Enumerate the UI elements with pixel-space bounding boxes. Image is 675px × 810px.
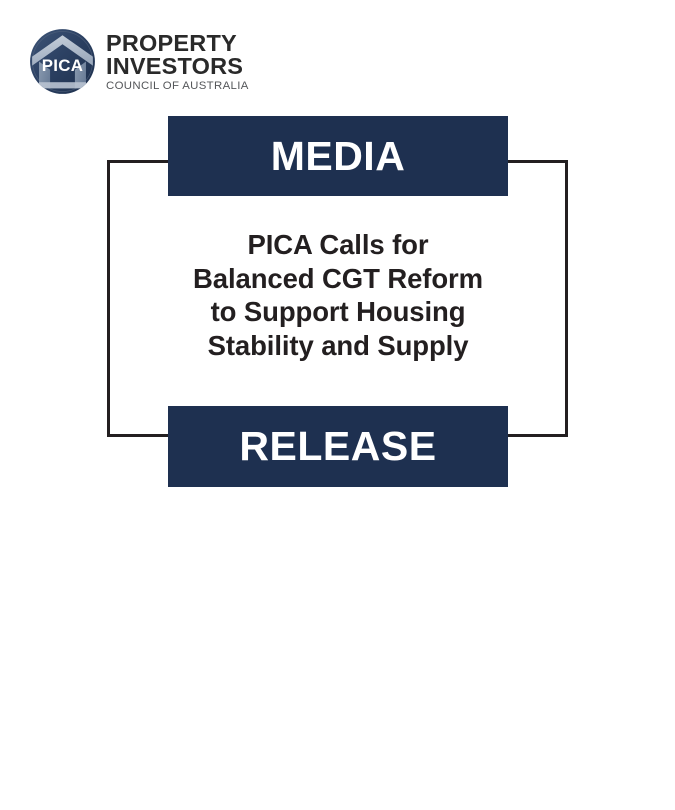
pica-circle-house-logo-icon: PICA bbox=[28, 27, 97, 96]
headline-line-4: Stability and Supply bbox=[110, 329, 566, 363]
pica-monogram-text: PICA bbox=[42, 56, 83, 75]
release-banner: RELEASE bbox=[168, 406, 508, 487]
brand-name-line-1: PROPERTY bbox=[106, 32, 249, 55]
media-banner-label: MEDIA bbox=[271, 136, 406, 177]
release-headline: PICA Calls for Balanced CGT Reform to Su… bbox=[110, 228, 566, 362]
brand-logo-lockup: PICA PROPERTY INVESTORS COUNCIL OF AUSTR… bbox=[28, 27, 249, 96]
media-release-page: PICA PROPERTY INVESTORS COUNCIL OF AUSTR… bbox=[0, 0, 675, 810]
headline-line-1: PICA Calls for bbox=[110, 228, 566, 262]
headline-line-3: to Support Housing bbox=[110, 295, 566, 329]
headline-line-2: Balanced CGT Reform bbox=[110, 262, 566, 296]
brand-tagline: COUNCIL OF AUSTRALIA bbox=[106, 79, 249, 93]
release-banner-label: RELEASE bbox=[239, 426, 436, 467]
brand-name-line-2: INVESTORS bbox=[106, 55, 249, 78]
media-banner: MEDIA bbox=[168, 116, 508, 196]
brand-wordmark: PROPERTY INVESTORS COUNCIL OF AUSTRALIA bbox=[106, 30, 249, 93]
